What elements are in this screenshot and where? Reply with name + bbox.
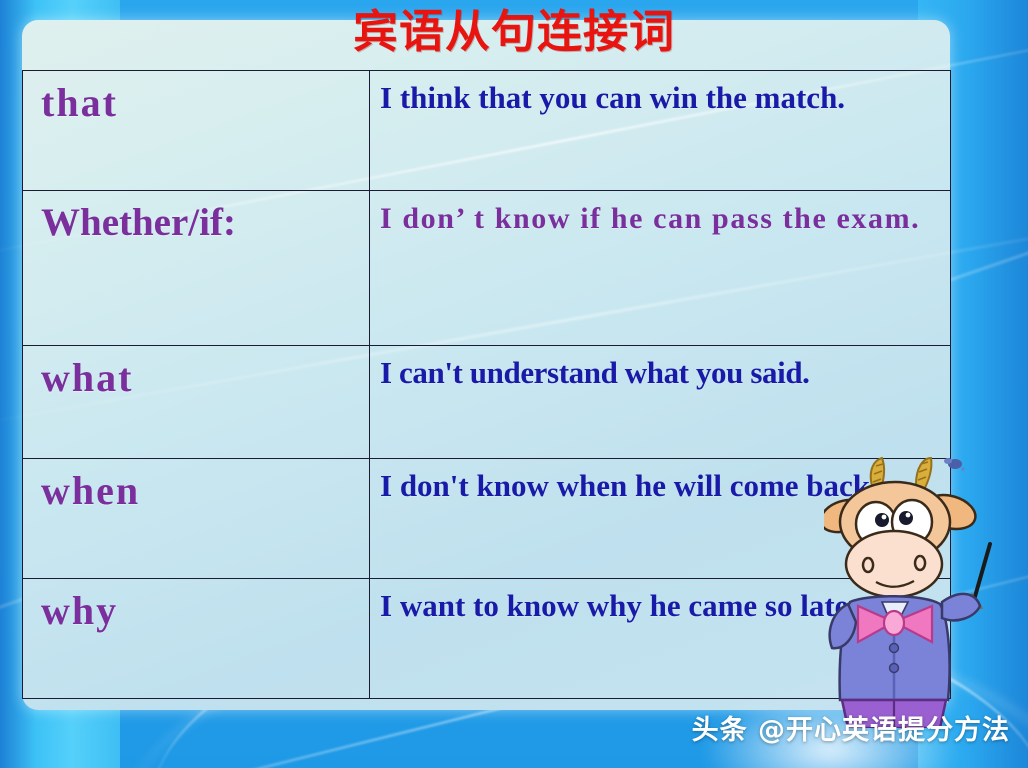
watermark: 头条 @开心英语提分方法 (0, 714, 1010, 748)
table-cell-example: I want to know why he came so late. (370, 579, 951, 699)
example-sentence: I can't understand what you said. (370, 346, 950, 394)
connective-label: that (23, 71, 369, 129)
connectives-table: that I think that you can win the match.… (22, 70, 951, 699)
table-cell-example: I don't know when he will come back. (370, 459, 951, 579)
example-sentence: I don't know when he will come back. (370, 459, 950, 507)
table-cell-key: Whether/if: (23, 191, 370, 346)
example-sentence: I don’ t know if he can pass the exam. (370, 191, 950, 241)
slide-canvas: 宾语从句连接词 that I think that you can win th… (0, 0, 1028, 768)
table-cell-key: that (23, 71, 370, 191)
example-sentence: I want to know why he came so late. (370, 579, 950, 627)
table-cell-example: I think that you can win the match. (370, 71, 951, 191)
table-cell-example: I can't understand what you said. (370, 346, 951, 459)
table-row: why I want to know why he came so late. (23, 579, 951, 699)
connective-label: when (23, 459, 369, 517)
table-row: when I don't know when he will come back… (23, 459, 951, 579)
table-row: what I can't understand what you said. (23, 346, 951, 459)
table-cell-example: I don’ t know if he can pass the exam. (370, 191, 951, 346)
table-row: Whether/if: I don’ t know if he can pass… (23, 191, 951, 346)
connective-label: Whether/if: (23, 191, 369, 249)
table-row: that I think that you can win the match. (23, 71, 951, 191)
table-cell-key: when (23, 459, 370, 579)
slide-title: 宾语从句连接词 (0, 4, 1028, 60)
watermark-text: 头条 @开心英语提分方法 (692, 715, 1010, 746)
connective-label: what (23, 346, 369, 404)
table-cell-key: what (23, 346, 370, 459)
example-sentence: I think that you can win the match. (370, 71, 950, 119)
table-cell-key: why (23, 579, 370, 699)
connective-label: why (23, 579, 369, 637)
